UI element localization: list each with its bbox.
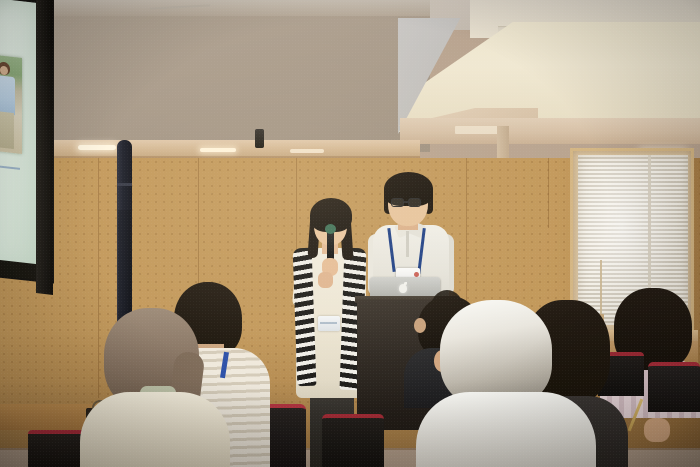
upper-wall (0, 0, 430, 152)
wood-panel-seam (466, 158, 467, 308)
apple-logo-icon (399, 284, 407, 293)
glasses-icon (391, 198, 404, 207)
audience-back-row-man-ear (414, 318, 426, 333)
microphone-head-icon (325, 224, 336, 234)
slide-photo-shirt (0, 75, 15, 116)
woman-speaker-name-badge-text (320, 322, 337, 324)
soffit-underside (400, 118, 700, 144)
slide-photo-face (0, 66, 8, 76)
strip-light-icon (200, 148, 236, 152)
woman-speaker-hand-lower (318, 272, 333, 288)
ceiling-sensor-icon (255, 129, 264, 148)
audience-left-woman-torso (80, 392, 230, 467)
speaker-column-band (117, 183, 132, 186)
chair[interactable] (648, 362, 700, 412)
apple-logo-leaf-icon (404, 282, 407, 285)
wood-panel-seam (548, 158, 549, 228)
slide-photo-trousers (0, 111, 14, 149)
glasses-icon (408, 198, 421, 207)
blind-cord[interactable] (600, 260, 602, 318)
recessed-light-icon (455, 126, 499, 134)
strip-light-icon (78, 145, 116, 150)
soffit-drop (497, 126, 509, 160)
glasses-bridge-icon (404, 201, 408, 203)
audience-silver-man-torso (416, 392, 596, 467)
strip-light-icon (290, 149, 324, 153)
audience-note-taker-hand (644, 418, 670, 442)
conference-photo (0, 0, 700, 467)
man-presenter-placket (406, 231, 409, 257)
chair[interactable] (322, 414, 384, 467)
projection-screen-side-frame (36, 0, 53, 295)
